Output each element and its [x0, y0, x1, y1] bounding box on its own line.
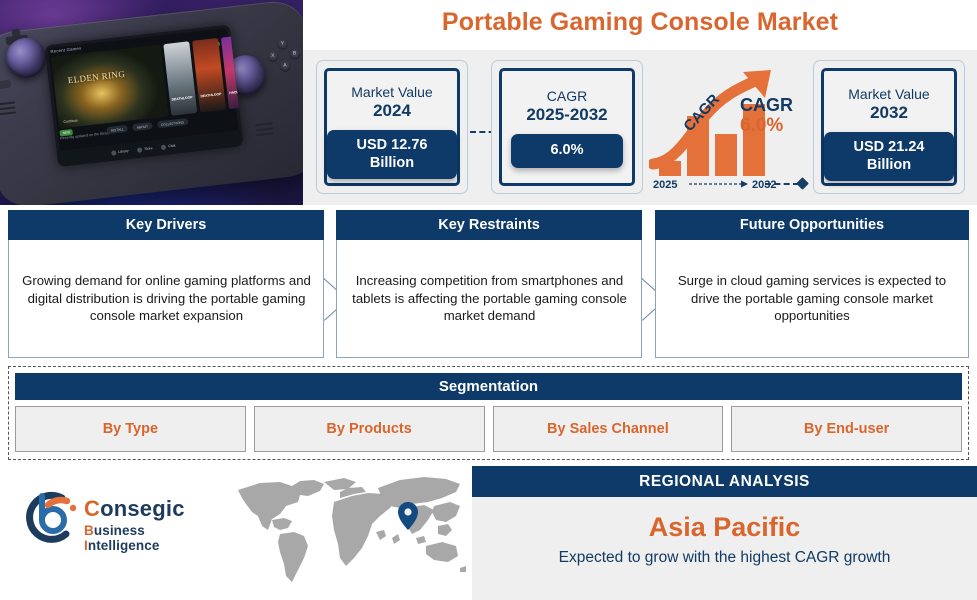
- hero-game-title: ELDEN RING: [67, 69, 126, 85]
- vent-line: [0, 106, 16, 110]
- logo-wordmark: Consegic: [84, 496, 222, 522]
- regional-note: Expected to grow with the highest CAGR g…: [472, 549, 977, 567]
- view-button: [0, 80, 11, 90]
- mv2032-year: 2032: [870, 103, 908, 123]
- vent-line: [256, 132, 274, 136]
- logo-mark-icon: [22, 488, 82, 548]
- cagr-callout-value: 6.0%: [740, 114, 793, 138]
- market-value-2024-card: Market Value 2024 USD 12.76 Billion: [316, 60, 468, 194]
- vent-line: [255, 122, 273, 126]
- hero-panel: Portable Gaming Console Market Market Va…: [303, 0, 977, 205]
- bottom-band: Consegic Business Intelligence: [0, 466, 977, 600]
- key-drivers-column: Key Drivers Growing demand for online ga…: [8, 210, 324, 358]
- cagr-callout-title: CAGR: [740, 96, 793, 114]
- key-drivers-heading: Key Drivers: [8, 210, 324, 240]
- screen-hero-tile: ELDEN RING Continue: [51, 45, 168, 129]
- segment-by-end-user[interactable]: By End-user: [731, 406, 962, 452]
- regional-analysis-panel: REGIONAL ANALYSIS Asia Pacific Expected …: [472, 466, 977, 600]
- top-band: Y B A X Recent Games: [0, 0, 977, 205]
- game-card: DEATHLOOP: [163, 41, 197, 115]
- logo-tagline: Business Intelligence: [84, 523, 222, 553]
- mv2024-value: USD 12.76 Billion: [327, 130, 457, 179]
- segment-by-products[interactable]: By Products: [254, 406, 485, 452]
- future-opportunities-text: Surge in cloud gaming services is expect…: [666, 272, 958, 324]
- segmentation-row: By Type By Products By Sales Channel By …: [15, 406, 962, 452]
- segmentation-heading: Segmentation: [15, 373, 962, 400]
- regional-top-region: Asia Pacific: [472, 513, 977, 543]
- vent-line: [256, 127, 274, 131]
- button-y: Y: [276, 38, 288, 50]
- cagr-label: CAGR: [547, 88, 587, 104]
- game-card: DEATHLOOP: [192, 38, 226, 112]
- metrics-strip: Market Value 2024 USD 12.76 Billion CAGR…: [303, 50, 977, 205]
- segment-by-type[interactable]: By Type: [15, 406, 246, 452]
- button-b: B: [289, 48, 301, 60]
- handheld-console-photo: Y B A X Recent Games: [0, 0, 303, 205]
- key-restraints-text: Increasing competition from smartphones …: [347, 272, 632, 324]
- infographic-page: Y B A X Recent Games: [0, 0, 977, 600]
- cagr-value: 6.0%: [511, 134, 623, 167]
- vent-line: [0, 111, 16, 115]
- cagr-card: CAGR 2025-2032 6.0%: [491, 60, 643, 194]
- cagr-callout: CAGR 6.0%: [740, 96, 793, 138]
- console-screen: Recent Games ELDEN RING Continue DEATHLO…: [45, 25, 244, 167]
- diamond-marker: [796, 177, 809, 190]
- world-map: [228, 472, 468, 594]
- segmentation-section: Segmentation By Type By Products By Sale…: [8, 366, 969, 460]
- screen-recent-games-label: Recent Games: [50, 46, 81, 54]
- mv2024-year: 2024: [373, 101, 411, 121]
- market-value-2032-card: Market Value 2032 USD 21.24 Billion: [813, 60, 965, 194]
- connector-cagr-to-2032: [765, 178, 813, 190]
- vent-line: [0, 101, 15, 105]
- svg-text:2025: 2025: [653, 179, 677, 191]
- button-a: A: [279, 60, 291, 72]
- consegic-logo: Consegic Business Intelligence: [22, 484, 222, 554]
- mv2032-value: USD 21.24 Billion: [824, 132, 954, 181]
- key-drivers-text: Growing demand for online gaming platfor…: [19, 272, 314, 324]
- mv2024-label: Market Value: [351, 84, 432, 100]
- button-x: X: [267, 50, 279, 62]
- key-restraints-column: Key Restraints Increasing competition fr…: [336, 210, 642, 358]
- cagr-year-range: 2025-2032: [526, 105, 607, 125]
- page-title: Portable Gaming Console Market: [303, 8, 977, 37]
- face-buttons: Y B A X: [266, 37, 303, 75]
- future-opportunities-column: Future Opportunities Surge in cloud gami…: [655, 210, 969, 358]
- hero-continue-label: Continue: [63, 118, 78, 124]
- regional-analysis-heading: REGIONAL ANALYSIS: [472, 466, 977, 497]
- key-sections: Key Drivers Growing demand for online ga…: [0, 210, 977, 358]
- segment-by-sales-channel[interactable]: By Sales Channel: [493, 406, 724, 452]
- mv2032-label: Market Value: [848, 86, 929, 102]
- future-opportunities-heading: Future Opportunities: [655, 210, 969, 240]
- key-restraints-heading: Key Restraints: [336, 210, 642, 240]
- console-body: Y B A X Recent Games: [0, 0, 303, 205]
